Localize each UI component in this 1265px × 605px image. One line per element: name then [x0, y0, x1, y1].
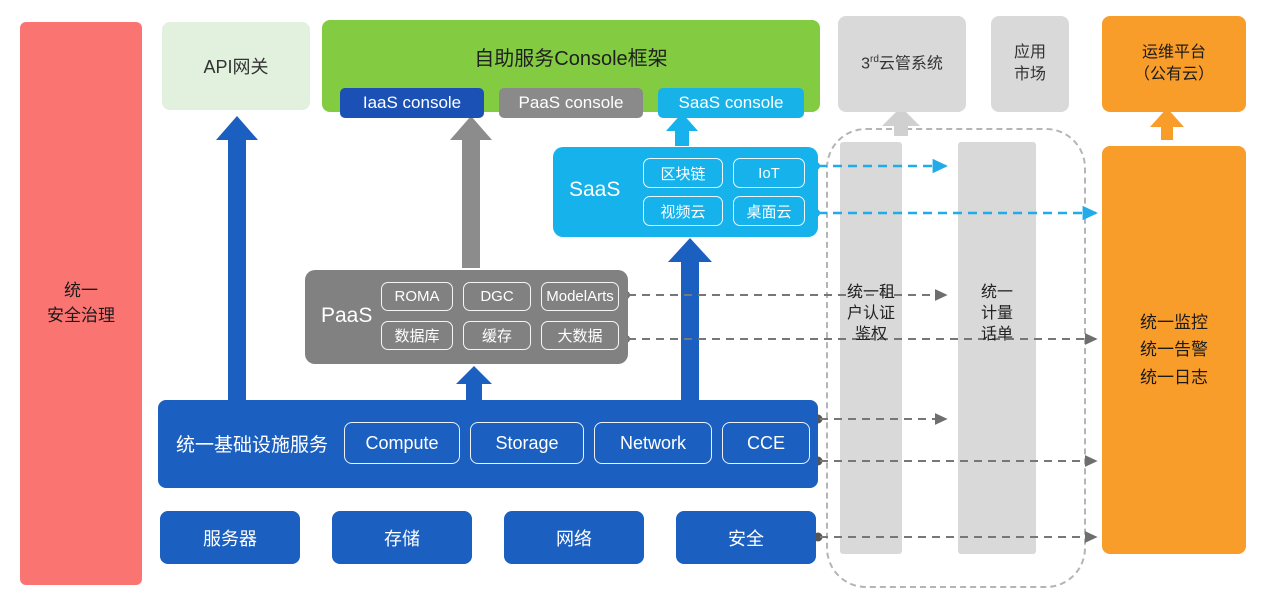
arrow-infra-to-apigw: [216, 116, 258, 400]
ops-platform-top-line-2: （公有云）: [1134, 64, 1214, 86]
metering-line-1: 统一: [958, 283, 1036, 304]
arrow-infra-to-saas: [668, 238, 712, 404]
hardware-item-storage[interactable]: 存储: [332, 511, 472, 564]
paas-layer-label: PaaS: [321, 304, 372, 328]
app-market-line-1: 应用: [1014, 42, 1046, 64]
third-party-suffix: 云管系统: [879, 55, 943, 72]
third-party-cloud-mgmt-box[interactable]: 3rd云管系统: [838, 16, 966, 112]
auth-line-2: 户认证: [840, 304, 902, 325]
auth-column-label: 统一租 户认证 鉴权: [840, 283, 902, 345]
infra-item-compute[interactable]: Compute: [344, 422, 460, 464]
paas-console-chip[interactable]: PaaS console: [499, 88, 643, 118]
paas-layer: PaaS ROMA DGC ModelArts 数据库 缓存 大数据: [305, 270, 628, 364]
arrow-paas-to-console: [450, 116, 492, 268]
app-market-line-2: 市场: [1014, 64, 1046, 86]
saas-layer-label: SaaS: [569, 178, 620, 202]
architecture-diagram: 统一 安全治理 API网关 自助服务Console框架 IaaS console…: [0, 0, 1265, 605]
ops-side-line-3: 统一日志: [1140, 364, 1208, 391]
metering-line-3: 话单: [958, 325, 1036, 346]
saas-item-desktop-cloud[interactable]: 桌面云: [733, 196, 805, 226]
saas-item-blockchain[interactable]: 区块链: [643, 158, 723, 188]
metering-line-2: 计量: [958, 304, 1036, 325]
app-market-box[interactable]: 应用 市场: [991, 16, 1069, 112]
infra-item-network[interactable]: Network: [594, 422, 712, 464]
api-gateway-box[interactable]: API网关: [162, 22, 310, 110]
infra-item-storage[interactable]: Storage: [470, 422, 584, 464]
api-gateway-label: API网关: [203, 53, 268, 79]
paas-item-modelarts[interactable]: ModelArts: [541, 282, 619, 311]
ops-platform-top-box[interactable]: 运维平台 （公有云）: [1102, 16, 1246, 112]
arrow-zone-to-ops-platform: [1150, 108, 1184, 140]
hardware-item-server[interactable]: 服务器: [160, 511, 300, 564]
infra-layer-label: 统一基础设施服务: [176, 430, 328, 457]
paas-item-dgc[interactable]: DGC: [463, 282, 531, 311]
ops-side-line-1: 统一监控: [1140, 309, 1208, 336]
third-party-label: 3rd云管系统: [861, 53, 943, 75]
unified-infrastructure-layer: 统一基础设施服务 Compute Storage Network CCE: [158, 400, 818, 488]
third-party-superscript: rd: [870, 54, 879, 65]
grey-column-metering: [958, 142, 1036, 554]
ops-platform-side-panel[interactable]: 统一监控 统一告警 统一日志: [1102, 146, 1246, 554]
hardware-item-security[interactable]: 安全: [676, 511, 816, 564]
paas-item-roma[interactable]: ROMA: [381, 282, 453, 311]
grey-column-auth: [840, 142, 902, 554]
governance-line-1: 统一: [64, 279, 98, 304]
saas-layer: SaaS 区块链 IoT 视频云 桌面云: [553, 147, 818, 237]
iaas-console-chip[interactable]: IaaS console: [340, 88, 484, 118]
third-party-prefix: 3: [861, 55, 870, 72]
ops-platform-top-line-1: 运维平台: [1142, 42, 1206, 64]
saas-item-iot[interactable]: IoT: [733, 158, 805, 188]
infra-item-cce[interactable]: CCE: [722, 422, 810, 464]
console-frame-title: 自助服务Console框架: [322, 42, 820, 71]
paas-item-database[interactable]: 数据库: [381, 321, 453, 350]
paas-item-bigdata[interactable]: 大数据: [541, 321, 619, 350]
saas-console-chip[interactable]: SaaS console: [658, 88, 804, 118]
paas-item-cache[interactable]: 缓存: [463, 321, 531, 350]
auth-line-1: 统一租: [840, 283, 902, 304]
auth-line-3: 鉴权: [840, 325, 902, 346]
metering-column-label: 统一 计量 话单: [958, 283, 1036, 345]
saas-item-video-cloud[interactable]: 视频云: [643, 196, 723, 226]
unified-security-governance-panel[interactable]: 统一 安全治理: [20, 22, 142, 585]
ops-side-line-2: 统一告警: [1140, 336, 1208, 363]
hardware-item-network[interactable]: 网络: [504, 511, 644, 564]
arrow-infra-to-paas: [456, 366, 492, 404]
self-service-console-frame: 自助服务Console框架 IaaS console PaaS console …: [322, 20, 820, 112]
governance-line-2: 安全治理: [47, 304, 115, 329]
